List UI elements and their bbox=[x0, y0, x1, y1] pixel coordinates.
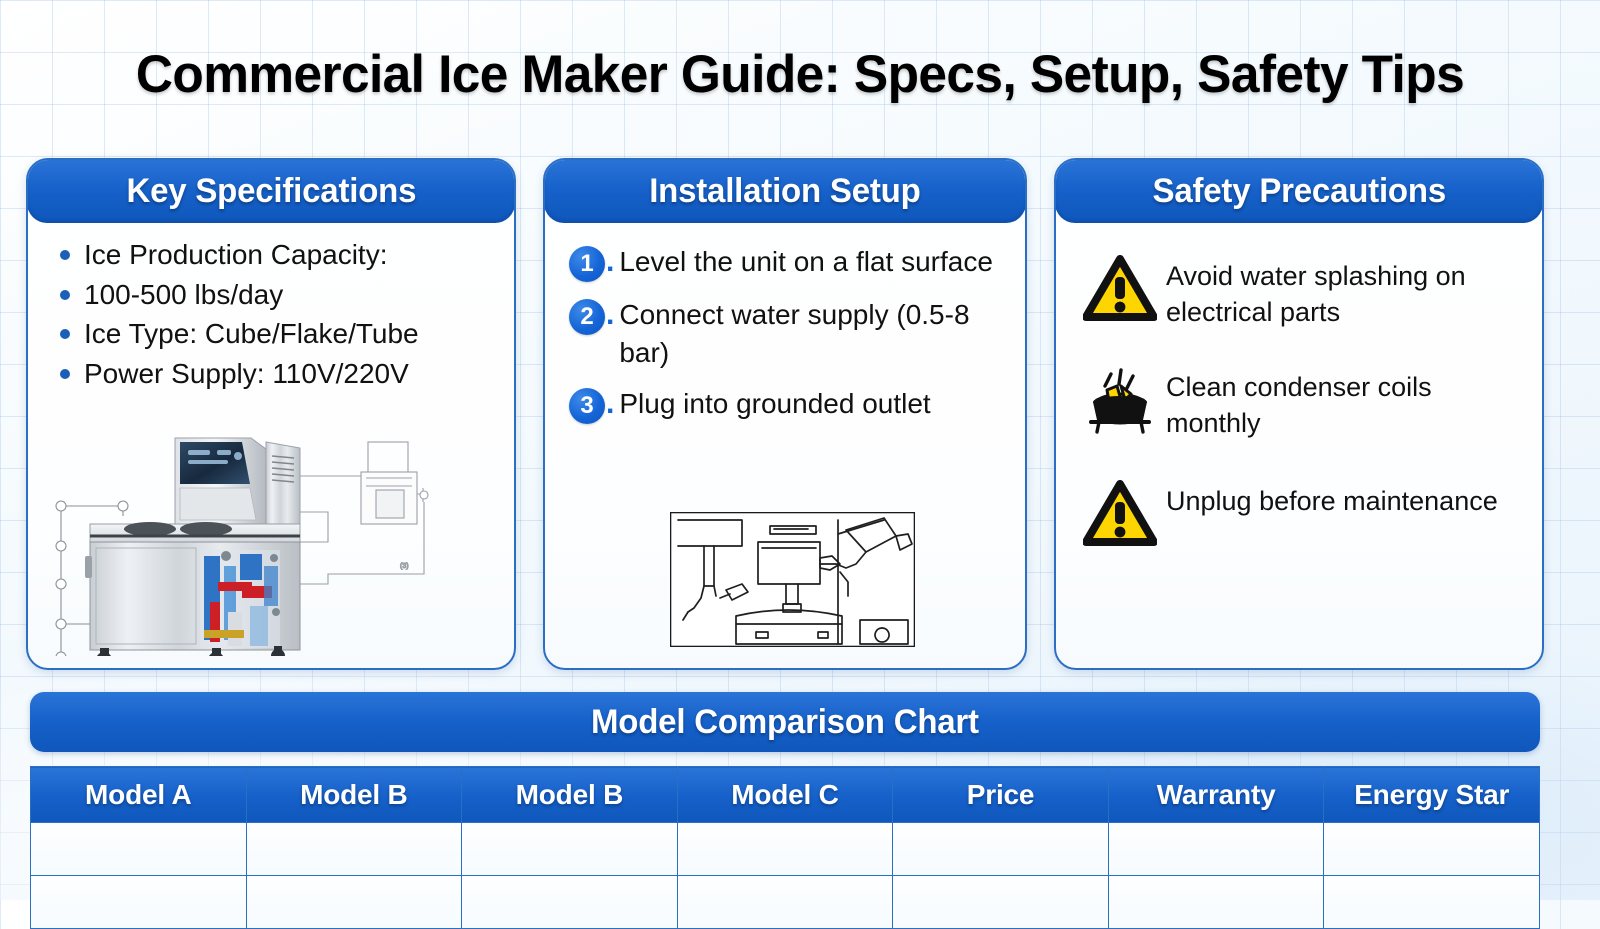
step-text: Level the unit on a flat surface bbox=[619, 243, 993, 281]
column-header-model-b-2[interactable]: Model B bbox=[462, 767, 678, 823]
key-specifications-card: Key Specifications Ice Production Capaci… bbox=[26, 158, 516, 670]
spec-list: Ice Production Capacity: 100-500 lbs/day… bbox=[46, 237, 496, 393]
model-comparison-title: Model Comparison Chart bbox=[591, 703, 979, 742]
warning-triangle-icon bbox=[1074, 478, 1166, 546]
table-cell bbox=[462, 876, 678, 929]
column-header-model-a[interactable]: Model A bbox=[31, 767, 247, 823]
bullet-dot-icon bbox=[60, 329, 70, 339]
spec-text: Ice Type: Cube/Flake/Tube bbox=[84, 318, 419, 349]
list-item: Ice Type: Cube/Flake/Tube bbox=[84, 316, 496, 353]
step-number-badge: 3 bbox=[569, 388, 605, 424]
step-text: Plug into grounded outlet bbox=[619, 385, 930, 423]
list-item: Avoid water splashing on electrical part… bbox=[1074, 253, 1524, 330]
svg-text:(3): (3) bbox=[400, 563, 409, 570]
warning-triangle-icon bbox=[1074, 253, 1166, 321]
installation-diagram-image bbox=[670, 512, 915, 647]
table-cell bbox=[246, 823, 462, 876]
table-cell bbox=[462, 823, 678, 876]
column-header-warranty[interactable]: Warranty bbox=[1108, 767, 1324, 823]
table-cell bbox=[677, 823, 893, 876]
list-item: Ice Production Capacity: bbox=[84, 237, 496, 274]
safety-precautions-card: Safety Precautions Avoid water splashing… bbox=[1054, 158, 1544, 670]
table-cell bbox=[1324, 823, 1540, 876]
table-cell bbox=[31, 876, 247, 929]
ice-maker-machine-image: (3) bbox=[28, 416, 514, 656]
bullet-dot-icon bbox=[60, 369, 70, 379]
safety-precautions-body: Avoid water splashing on electrical part… bbox=[1056, 223, 1542, 546]
spec-text: Power Supply: 110V/220V bbox=[84, 358, 409, 389]
model-comparison-title-bar: Model Comparison Chart bbox=[30, 692, 1540, 752]
installation-setup-title: Installation Setup bbox=[649, 172, 920, 211]
table-row bbox=[31, 823, 1540, 876]
table-cell bbox=[31, 823, 247, 876]
spec-text: 100-500 lbs/day bbox=[84, 279, 283, 310]
column-header-price[interactable]: Price bbox=[893, 767, 1109, 823]
column-header-model-c[interactable]: Model C bbox=[677, 767, 893, 823]
step-number-badge: 2 bbox=[569, 299, 605, 335]
installation-setup-body: 1 . Level the unit on a flat surface 2 .… bbox=[545, 223, 1025, 424]
model-comparison-panel: Model Comparison Chart Model A Model B M… bbox=[30, 692, 1540, 929]
safety-precautions-title: Safety Precautions bbox=[1152, 172, 1445, 211]
bullet-dot-icon bbox=[60, 290, 70, 300]
list-item: Unplug before maintenance bbox=[1074, 478, 1524, 546]
step-number-badge: 1 bbox=[569, 246, 605, 282]
list-item: 100-500 lbs/day bbox=[84, 277, 496, 314]
table-cell bbox=[1108, 876, 1324, 929]
table-row bbox=[31, 876, 1540, 929]
table-cell bbox=[1324, 876, 1540, 929]
table-cell bbox=[1108, 823, 1324, 876]
list-item: Power Supply: 110V/220V bbox=[84, 356, 496, 393]
list-item: 1 . Level the unit on a flat surface bbox=[569, 243, 1007, 282]
list-item: 3 . Plug into grounded outlet bbox=[569, 385, 1007, 424]
key-specifications-header: Key Specifications bbox=[27, 159, 515, 223]
key-specifications-title: Key Specifications bbox=[126, 172, 416, 211]
safety-precautions-header: Safety Precautions bbox=[1055, 159, 1543, 223]
column-header-energy-star[interactable]: Energy Star bbox=[1324, 767, 1540, 823]
list-item: 2 . Connect water supply (0.5-8 bar) bbox=[569, 296, 1007, 371]
table-header-row: Model A Model B Model B Model C Price Wa… bbox=[31, 767, 1540, 823]
safety-text: Avoid water splashing on electrical part… bbox=[1166, 253, 1524, 330]
bullet-dot-icon bbox=[60, 250, 70, 260]
step-separator: . bbox=[606, 296, 614, 334]
column-header-model-b-1[interactable]: Model B bbox=[246, 767, 462, 823]
cleaning-bowl-icon bbox=[1074, 364, 1166, 436]
key-specifications-body: Ice Production Capacity: 100-500 lbs/day… bbox=[28, 223, 514, 393]
model-comparison-table: Model A Model B Model B Model C Price Wa… bbox=[30, 766, 1540, 929]
page-title: Commercial Ice Maker Guide: Specs, Setup… bbox=[24, 44, 1576, 105]
table-cell bbox=[893, 876, 1109, 929]
table-cell bbox=[893, 823, 1109, 876]
step-separator: . bbox=[606, 385, 614, 423]
list-item: Clean condenser coils monthly bbox=[1074, 364, 1524, 441]
step-text: Connect water supply (0.5-8 bar) bbox=[619, 296, 1007, 371]
safety-text: Unplug before maintenance bbox=[1166, 478, 1498, 520]
spec-text: Ice Production Capacity: bbox=[84, 239, 388, 270]
installation-setup-card: Installation Setup 1 . Level the unit on… bbox=[543, 158, 1027, 670]
table-cell bbox=[677, 876, 893, 929]
installation-setup-header: Installation Setup bbox=[544, 159, 1026, 223]
step-separator: . bbox=[606, 243, 614, 281]
setup-steps-list: 1 . Level the unit on a flat surface 2 .… bbox=[563, 237, 1007, 424]
safety-text: Clean condenser coils monthly bbox=[1166, 364, 1524, 441]
table-cell bbox=[246, 876, 462, 929]
